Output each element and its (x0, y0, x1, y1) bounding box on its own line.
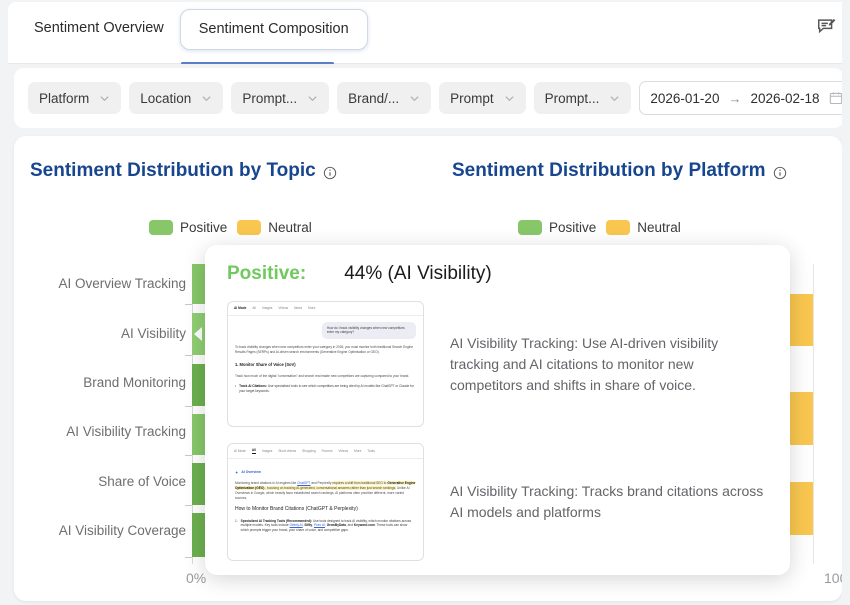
date-range-separator: → (728, 91, 741, 106)
axis-tick (185, 455, 192, 456)
nav-item: Images (262, 306, 272, 311)
y-axis-labels: AI Overview Tracking AI Visibility Brand… (14, 264, 186, 564)
highlight-2: , focusing on tracking AI-generated, con… (265, 486, 396, 490)
nav-item: More (354, 449, 361, 454)
legend-item-positive[interactable]: Positive (149, 220, 227, 235)
legend-label: Neutral (637, 220, 681, 235)
nav-item: Tools (367, 449, 374, 454)
screenshot-paragraph: To track visibility changes when new com… (235, 345, 416, 355)
ai-overview-text: AI Overview (241, 470, 260, 475)
hover-caret-icon (194, 327, 202, 341)
filter-prompt-1[interactable]: Prompt... (231, 82, 329, 114)
tab-sentiment-overview[interactable]: Sentiment Overview (18, 10, 180, 47)
nav-item: All (252, 306, 256, 311)
x-axis-min-label: 0% (186, 570, 206, 586)
list-content: Specialized AI Tracking Tools (Recommend… (241, 519, 416, 534)
filter-bar: Platform Location Prompt... Brand/... (14, 68, 844, 128)
y-axis-label: AI Visibility Tracking (66, 424, 186, 439)
para-mid: and Perplexity (311, 481, 331, 485)
nav-item: More (308, 306, 315, 311)
legend-swatch-positive (518, 220, 542, 235)
tool-siftly: Siftly (304, 523, 312, 527)
filter-prompt-2[interactable]: Prompt (439, 82, 526, 114)
calendar-icon (829, 91, 843, 105)
list-bold: Specialized AI Tracking Tools (Recommend… (241, 519, 312, 523)
tab-label: Sentiment Overview (34, 20, 164, 36)
screenshot-thumbnail-2[interactable]: AI Mode All Images Short videos Shopping… (227, 443, 424, 561)
axis-tick (185, 355, 192, 356)
screenshot-list-item: 1. Specialized AI Tracking Tools (Recomm… (235, 519, 416, 534)
filter-label: Prompt... (242, 91, 297, 106)
y-axis-label: Brand Monitoring (83, 375, 186, 390)
nav-item: AI Mode (234, 306, 246, 311)
tooltip-entry: AI Mode All Images Short videos Shopping… (227, 443, 768, 561)
app-root: Sentiment Overview Sentiment Composition… (0, 0, 850, 605)
screenshot-body: How do I track visibility changes when n… (228, 316, 423, 400)
link-chatgpt[interactable]: ChatGPT (297, 481, 310, 485)
sparkle-icon: ✦ (235, 470, 238, 476)
y-axis-label: AI Overview Tracking (58, 276, 186, 291)
nav-item: Shopping (302, 449, 315, 454)
filter-label: Prompt... (545, 91, 600, 106)
nav-item: Videos (338, 449, 348, 454)
date-range-end: 2026-02-18 (750, 91, 819, 106)
nav-item: All (252, 448, 256, 454)
nav-item: Images (262, 449, 272, 454)
chart-title: Sentiment Distribution by Topic (30, 160, 337, 182)
tool-keyword: Keyword.com (354, 523, 375, 527)
chart-legend: Positive Neutral (149, 220, 312, 235)
y-axis-label: AI Visibility (121, 326, 186, 341)
bullet-dot: • (235, 384, 236, 393)
tooltip-value: 44% (AI Visibility) (344, 263, 491, 285)
feedback-edit-icon[interactable] (814, 14, 840, 40)
tooltip-description: AI Visibility Tracking: Tracks brand cit… (450, 481, 768, 523)
screenshot-query-bubble: How do I track visibility changes when n… (322, 322, 416, 340)
tooltip-entry: AI Mode All Images Videos News More How … (227, 301, 768, 427)
filter-label: Location (140, 91, 191, 106)
right-gutter (842, 0, 850, 605)
screenshot-paragraph: Monitoring brand citations in AI engines… (235, 481, 416, 501)
tooltip-sentiment-label: Positive: (227, 263, 306, 285)
screenshot-subparagraph: Track how much of the digital "conversat… (235, 374, 416, 379)
chevron-down-icon (504, 93, 515, 104)
bullet-bold: Track AI Citations: (239, 384, 267, 388)
chart-title-text: Sentiment Distribution by Topic (30, 160, 316, 182)
legend-item-positive[interactable]: Positive (518, 220, 596, 235)
filter-bar-wrapper: Platform Location Prompt... Brand/... (8, 64, 850, 130)
tab-sentiment-composition[interactable]: Sentiment Composition (180, 9, 368, 50)
chart-title: Sentiment Distribution by Platform (452, 160, 787, 182)
legend-swatch-neutral (606, 220, 630, 235)
date-range-start: 2026-01-20 (650, 91, 719, 106)
x-axis-max-label: 100% (824, 570, 842, 586)
filter-brand[interactable]: Brand/... (337, 82, 431, 114)
filter-label: Brand/... (348, 91, 399, 106)
y-axis-label: Share of Voice (98, 474, 186, 489)
filter-label: Platform (39, 91, 89, 106)
legend-item-neutral[interactable]: Neutral (237, 220, 312, 235)
bullet-content: Track AI Citations: Use specialised tool… (239, 384, 416, 393)
legend-label: Positive (180, 220, 227, 235)
info-icon[interactable] (323, 164, 337, 178)
chart-tooltip: Positive: 44% (AI Visibility) AI Mode Al… (205, 245, 790, 575)
chevron-down-icon (307, 93, 318, 104)
axis-tick (185, 304, 192, 305)
screenshot-ai-overview-label: ✦ AI Overview (235, 470, 416, 476)
nav-item: AI Mode (234, 449, 246, 454)
nav-item: News (294, 306, 302, 311)
filter-label: Prompt (450, 91, 494, 106)
chart-legend: Positive Neutral (518, 220, 681, 235)
screenshot-body: ✦ AI Overview Monitoring brand citations… (228, 459, 423, 540)
nav-item: Forums (322, 449, 333, 454)
screenshot-thumbnail-1[interactable]: AI Mode All Images Videos News More How … (227, 301, 424, 427)
screenshot-heading: How to Monitor Brand Citations (ChatGPT … (235, 506, 416, 513)
axis-tick (185, 557, 192, 558)
tab-list: Sentiment Overview Sentiment Composition (18, 10, 368, 64)
nav-item: Short videos (278, 449, 296, 454)
date-range-picker[interactable]: 2026-01-20 → 2026-02-18 (639, 81, 850, 115)
tab-bar: Sentiment Overview Sentiment Composition (8, 2, 850, 64)
chevron-down-icon (609, 93, 620, 104)
para-pre: Monitoring brand citations in AI engines… (235, 481, 296, 485)
tooltip-header: Positive: 44% (AI Visibility) (227, 263, 768, 285)
tool-link-otterly[interactable]: Otterly.AI (290, 523, 303, 527)
legend-swatch-positive (149, 220, 173, 235)
tool-growbydata: GrowByData (327, 523, 346, 527)
filter-platform[interactable]: Platform (28, 82, 121, 114)
filter-prompt-3[interactable]: Prompt... (534, 82, 632, 114)
chart-title-text: Sentiment Distribution by Platform (452, 160, 766, 182)
filter-location[interactable]: Location (129, 82, 223, 114)
legend-item-neutral[interactable]: Neutral (606, 220, 681, 235)
y-axis-label: AI Visibility Coverage (59, 523, 186, 538)
axis-tick (185, 406, 192, 407)
nav-item: Videos (278, 306, 288, 311)
screenshot-nav: AI Mode All Images Videos News More (228, 302, 423, 316)
list-number: 1. (235, 519, 238, 534)
legend-label: Neutral (268, 220, 312, 235)
legend-swatch-neutral (237, 220, 261, 235)
axis-tick (185, 505, 192, 506)
screenshot-heading: 1. Monitor Share of Voice (SoV) (235, 362, 416, 368)
legend-label: Positive (549, 220, 596, 235)
tab-label: Sentiment Composition (199, 21, 349, 37)
screenshot-bullet: • Track AI Citations: Use specialised to… (235, 384, 416, 393)
tool-link-peec[interactable]: Peec AI (314, 523, 325, 527)
chevron-down-icon (99, 93, 110, 104)
chevron-down-icon (201, 93, 212, 104)
tooltip-description: AI Visibility Tracking: Use AI-driven vi… (450, 333, 768, 396)
highlight-1: requires a shift from traditional SEO to (332, 481, 386, 485)
info-icon[interactable] (773, 164, 787, 178)
chevron-down-icon (409, 93, 420, 104)
screenshot-nav: AI Mode All Images Short videos Shopping… (228, 444, 423, 459)
